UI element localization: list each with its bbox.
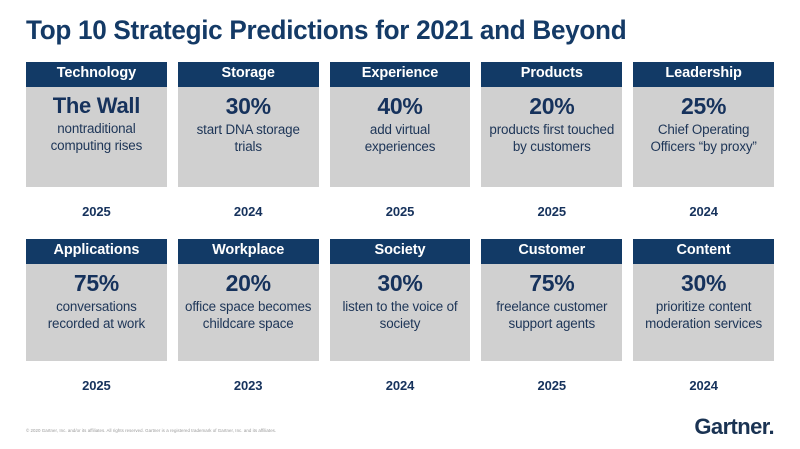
card-category-header: Storage [178,62,319,87]
card-category-header: Leadership [633,62,774,87]
card-stat: 30% [226,94,271,120]
card-description: products first touched by customers [487,121,616,155]
card-year: 2025 [481,378,622,393]
prediction-card[interactable]: Storage 30% start DNA storage trials 202… [178,62,319,219]
prediction-row-2: Applications 75% conversations recorded … [26,239,774,393]
card-description: Chief Operating Officers “by proxy” [639,121,768,155]
card-description: office space becomes childcare space [184,298,313,332]
card-category-header: Applications [26,239,167,264]
slide-root: Top 10 Strategic Predictions for 2021 an… [0,0,800,449]
card-description: start DNA storage trials [184,121,313,155]
card-stat: The Wall [53,94,140,119]
card-year: 2025 [26,378,167,393]
prediction-card[interactable]: Technology The Wall nontraditional compu… [26,62,167,219]
card-year: 2024 [633,378,774,393]
card-description: conversations recorded at work [32,298,161,332]
card-stat: 75% [529,271,574,297]
card-description: freelance customer support agents [487,298,616,332]
copyright-text: © 2020 Gartner, Inc. and/or its affiliat… [26,428,276,438]
card-category-header: Technology [26,62,167,87]
card-body: 20% office space becomes childcare space [178,264,319,361]
card-body: 25% Chief Operating Officers “by proxy” [633,87,774,187]
card-category-header: Content [633,239,774,264]
prediction-card[interactable]: Leadership 25% Chief Operating Officers … [633,62,774,219]
card-description: add virtual experiences [336,121,465,155]
card-stat: 25% [681,94,726,120]
card-year: 2025 [26,204,167,219]
prediction-row-1: Technology The Wall nontraditional compu… [26,62,774,219]
card-category-header: Society [330,239,471,264]
card-category-header: Workplace [178,239,319,264]
card-stat: 20% [529,94,574,120]
card-stat: 30% [377,271,422,297]
prediction-card[interactable]: Applications 75% conversations recorded … [26,239,167,393]
prediction-card[interactable]: Experience 40% add virtual experiences 2… [330,62,471,219]
card-body: 30% listen to the voice of society [330,264,471,361]
card-year: 2023 [178,378,319,393]
card-description: nontraditional computing rises [32,120,161,154]
card-body: 20% products first touched by customers [481,87,622,187]
card-body: The Wall nontraditional computing rises [26,87,167,187]
card-category-header: Experience [330,62,471,87]
card-year: 2025 [481,204,622,219]
page-title: Top 10 Strategic Predictions for 2021 an… [26,0,763,45]
card-stat: 20% [226,271,271,297]
card-body: 75% conversations recorded at work [26,264,167,361]
card-year: 2024 [330,378,471,393]
gartner-logo: Gartner. [694,416,774,438]
card-year: 2025 [330,204,471,219]
slide-footer: © 2020 Gartner, Inc. and/or its affiliat… [26,416,774,438]
prediction-card[interactable]: Society 30% listen to the voice of socie… [330,239,471,393]
card-category-header: Products [481,62,622,87]
prediction-card[interactable]: Content 30% prioritize content moderatio… [633,239,774,393]
card-year: 2024 [633,204,774,219]
prediction-card[interactable]: Products 20% products first touched by c… [481,62,622,219]
card-description: listen to the voice of society [336,298,465,332]
card-year: 2024 [178,204,319,219]
card-body: 40% add virtual experiences [330,87,471,187]
card-body: 30% start DNA storage trials [178,87,319,187]
card-stat: 30% [681,271,726,297]
prediction-card[interactable]: Customer 75% freelance customer support … [481,239,622,393]
card-body: 30% prioritize content moderation servic… [633,264,774,361]
card-stat: 75% [74,271,119,297]
card-stat: 40% [377,94,422,120]
prediction-card[interactable]: Workplace 20% office space becomes child… [178,239,319,393]
card-body: 75% freelance customer support agents [481,264,622,361]
card-category-header: Customer [481,239,622,264]
card-description: prioritize content moderation services [639,298,768,332]
